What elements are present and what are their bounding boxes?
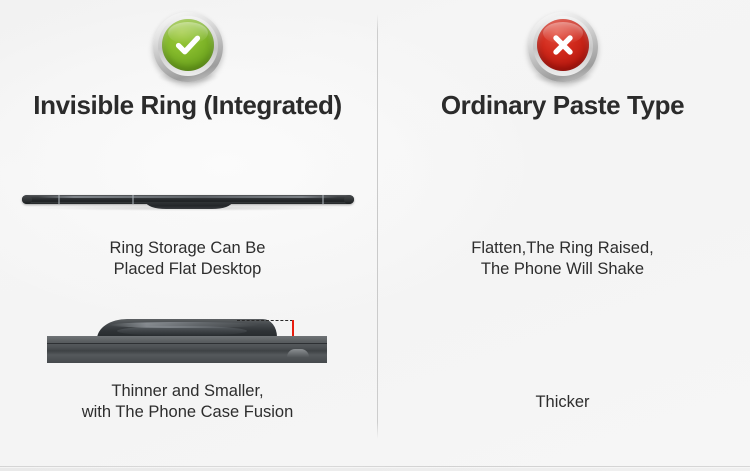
badge-outer-ring: [153, 12, 223, 82]
phone-antenna-seam: [58, 195, 60, 204]
badge-outer-ring: [528, 12, 598, 82]
phone-antenna-seam: [132, 195, 134, 204]
left-lower-caption-line-2: with The Phone Case Fusion: [0, 402, 375, 423]
left-comparison-panel: Invisible Ring (Integrated) Ring Storage…: [0, 0, 375, 471]
left-upper-caption: Ring Storage Can Be Placed Flat Desktop: [0, 238, 375, 280]
footer-rule: [0, 466, 750, 467]
phone-case-cross-section-thin-image: [47, 318, 327, 366]
left-lower-caption: Thinner and Smaller, with The Phone Case…: [0, 381, 375, 423]
check-glyph: [162, 19, 214, 71]
right-lower-caption: Thicker: [375, 392, 750, 413]
cross-mark-icon: [537, 19, 589, 71]
phone-end-cap-right: [344, 195, 354, 204]
right-upper-caption-line-2: The Phone Will Shake: [375, 259, 750, 280]
right-upper-caption-line-1: Flatten,The Ring Raised,: [375, 238, 750, 259]
desk-surface-seam: [47, 343, 327, 344]
check-mark-icon: [162, 19, 214, 71]
phone-edge-highlight: [38, 196, 338, 198]
phone-flat-side-profile-image: [22, 192, 354, 210]
phone-integrated-ring-bulge: [146, 202, 232, 209]
phone-end-cap-left: [22, 195, 32, 204]
left-upper-caption-line-2: Placed Flat Desktop: [0, 259, 375, 280]
bad-badge: [524, 10, 602, 88]
cross-glyph: [537, 19, 589, 71]
desk-surface: [47, 336, 327, 363]
left-panel-title: Invisible Ring (Integrated): [0, 90, 375, 121]
right-panel-title: Ordinary Paste Type: [375, 90, 750, 121]
phone-antenna-seam: [322, 195, 324, 204]
left-lower-caption-line-1: Thinner and Smaller,: [0, 381, 375, 402]
case-side-button: [287, 349, 309, 357]
right-comparison-panel: Ordinary Paste Type Flatten,The Ring Rai…: [375, 0, 750, 471]
left-upper-caption-line-1: Ring Storage Can Be: [0, 238, 375, 259]
good-badge: [149, 10, 227, 88]
right-lower-caption-line-1: Thicker: [375, 392, 750, 413]
right-upper-caption: Flatten,The Ring Raised, The Phone Will …: [375, 238, 750, 280]
comparison-infographic: Invisible Ring (Integrated) Ring Storage…: [0, 0, 750, 471]
